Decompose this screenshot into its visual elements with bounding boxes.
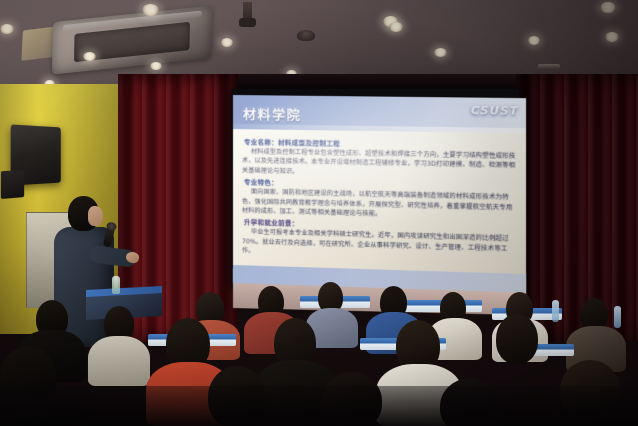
ceiling-light	[0, 24, 14, 34]
water-bottle	[614, 306, 621, 328]
slide-title: 材料学院	[243, 104, 301, 124]
slide-section-body-1: 材料成型及控制工程专业包含塑性成形、超塑技术和焊接三个方向，主要学习结构塑性成形…	[242, 147, 516, 181]
projection-screen: 材料学院 CSUST 专业名称：材料成型及控制工程 材料成型及控制工程专业包含塑…	[233, 95, 526, 293]
ceiling-light	[389, 22, 403, 32]
stage-curtain-right	[516, 74, 638, 342]
lecture-hall-photo: 材料学院 CSUST 专业名称：材料成型及控制工程 材料成型及控制工程专业包含塑…	[0, 0, 638, 426]
ceiling-panel	[21, 25, 66, 61]
presenter-face	[88, 206, 103, 226]
ceiling-light	[150, 62, 162, 70]
water-bottle	[112, 276, 120, 294]
smoke-detector-icon	[297, 30, 315, 41]
university-logo: CSUST	[471, 104, 519, 118]
ceiling-light	[383, 16, 398, 27]
slide-section-body-3: 毕业生可报考本专业及相关学科硕士研究生。近年，国内攻读研究生和出国深造的比例超过…	[242, 228, 516, 264]
slide-body: 专业名称：材料成型及控制工程 材料成型及控制工程专业包含塑性成形、超塑技术和焊接…	[233, 129, 526, 274]
foreground-shadow	[0, 386, 638, 426]
ceiling-light	[605, 32, 619, 42]
slide-section-body-2: 面向国家、国防和地区建设的主战场，以航空航天等高端装备制造领域的材料成形技术为特…	[242, 187, 516, 222]
ceiling-light	[434, 48, 447, 57]
projector-icon	[243, 2, 252, 24]
ceiling-light	[142, 4, 159, 16]
ceiling-light	[600, 2, 616, 13]
ac-vent-icon	[52, 5, 212, 74]
ceiling-vent-icon	[538, 64, 560, 69]
wall-speaker-icon	[11, 124, 61, 185]
attendee-shoulders	[88, 336, 150, 386]
ceiling-light	[528, 36, 540, 45]
water-bottle	[552, 300, 559, 322]
ceiling-light	[221, 38, 233, 47]
ceiling-light	[83, 52, 96, 61]
slide-header-band: 材料学院 CSUST	[233, 95, 526, 133]
